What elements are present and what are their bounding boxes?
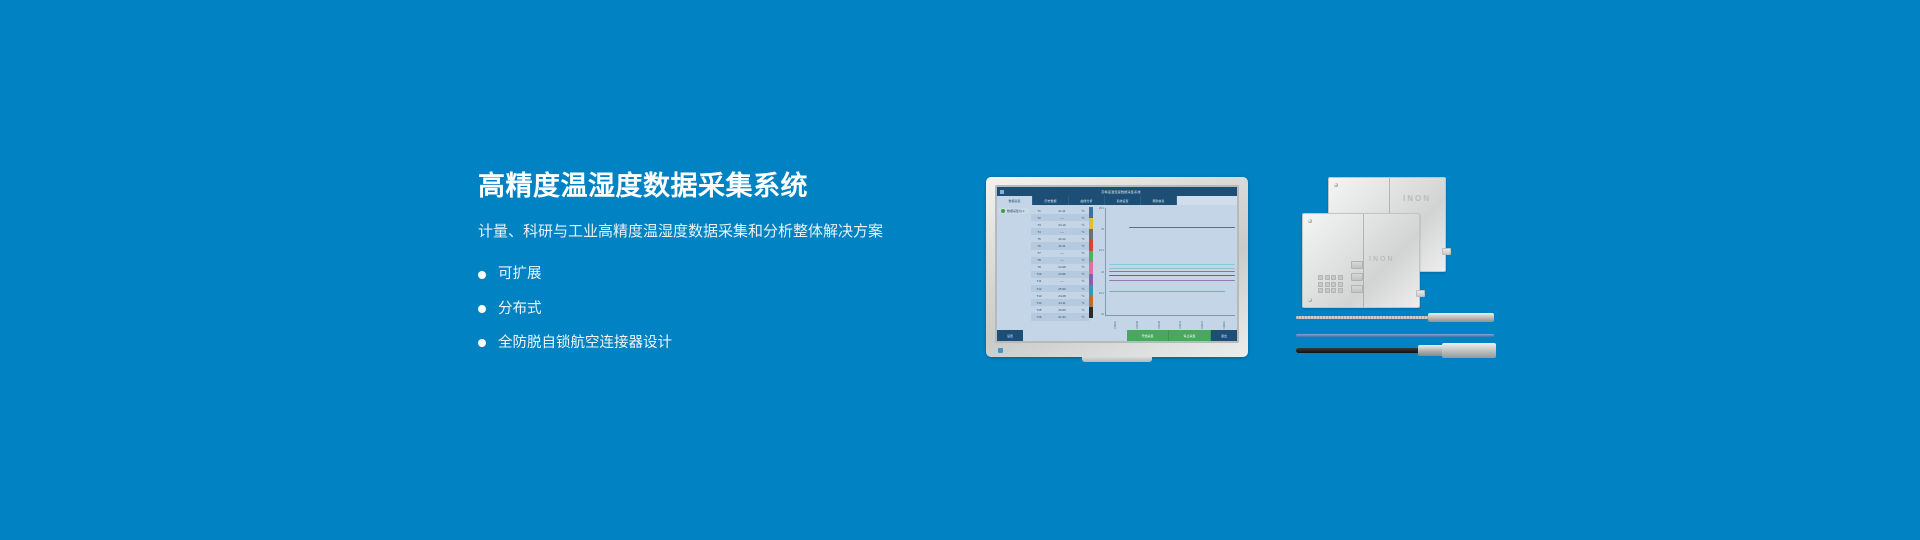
terminal-block-grid [1318, 275, 1343, 293]
port-column [1351, 261, 1363, 293]
feature-list: 可扩展 分布式 全防脱自锁航空连接器设计 [478, 264, 948, 353]
y-tick-label: 25.1 [1099, 207, 1104, 210]
metal-probe [1296, 316, 1430, 319]
channel-unit: ℃ [1077, 279, 1089, 283]
table-row[interactable]: T924.98℃ [1031, 264, 1089, 271]
page-subtitle: 计量、科研与工业高精度温湿度数据采集和分析整体解决方案 [478, 221, 948, 242]
app-logo-icon [1000, 190, 1004, 194]
chart-plot-area [1105, 208, 1235, 316]
copy-block: 高精度温湿度数据采集系统 计量、科研与工业高精度温湿度数据采集和分析整体解决方案… [478, 170, 948, 367]
channel-unit: ℃ [1077, 294, 1089, 298]
bullet-dot-icon [478, 339, 486, 347]
device-tree-sidebar: 数据采集仪-1 [997, 205, 1031, 330]
chart-series-line [1109, 275, 1235, 276]
channel-id: T6 [1031, 244, 1047, 248]
metal-probe-tip [1428, 313, 1494, 322]
channel-value: ---- [1047, 251, 1077, 255]
table-row[interactable]: T1424.11℃ [1031, 299, 1089, 306]
sidebar-item-label: 数据采集仪-1 [1007, 209, 1025, 213]
series-colorbar [1089, 207, 1093, 318]
channel-table: T121.11℃T2----℃T324.19℃T4----℃T520.12℃T6… [1031, 205, 1089, 330]
channel-unit: ℃ [1077, 265, 1089, 269]
channel-id: T12 [1031, 287, 1047, 291]
sensor-probes [1296, 312, 1496, 367]
channel-id: T4 [1031, 230, 1047, 234]
channel-value: ---- [1047, 279, 1077, 283]
table-row[interactable]: T2----℃ [1031, 214, 1089, 221]
table-row[interactable]: T1324.28℃ [1031, 292, 1089, 299]
chart-series-line [1129, 227, 1235, 228]
channel-id: T14 [1031, 301, 1047, 305]
monitor-display: 高精度温湿度数据采集系统 数据采集 历史数据 曲线分析 系统设置 帮助信息 数据… [995, 185, 1239, 343]
channel-value: 20.11 [1047, 244, 1077, 248]
feature-label: 全防脱自锁航空连接器设计 [498, 333, 672, 353]
exit-button[interactable]: 退出 [1211, 330, 1237, 341]
list-item: 可扩展 [478, 264, 948, 284]
acquisition-module-front: INON [1302, 213, 1420, 308]
module-seam [1363, 214, 1364, 307]
trend-chart: 25.12524.12423.123 10:20:3110:21:0510:21… [1094, 205, 1237, 330]
channel-unit: ℃ [1077, 287, 1089, 291]
y-tick-label: 23.1 [1099, 292, 1104, 295]
screw-icon [1308, 298, 1312, 302]
connector-lug [1416, 290, 1425, 297]
channel-unit: ℃ [1077, 223, 1089, 227]
colorbar-segment [1089, 285, 1093, 296]
channel-id: T9 [1031, 265, 1047, 269]
channel-id: T10 [1031, 272, 1047, 276]
channel-id: T11 [1031, 279, 1047, 283]
probe-ferrule [1418, 345, 1444, 356]
colorbar-segment [1089, 296, 1093, 307]
channel-unit: ℃ [1077, 308, 1089, 312]
screw-icon [1334, 183, 1338, 187]
channel-unit: ℃ [1077, 209, 1089, 213]
channel-value: 24.86 [1047, 272, 1077, 276]
vendor-logo-icon [998, 348, 1003, 353]
feature-label: 可扩展 [498, 264, 542, 284]
channel-value: ---- [1047, 216, 1077, 220]
channel-id: T13 [1031, 294, 1047, 298]
y-tick-label: 23 [1101, 313, 1104, 316]
connector-lug [1442, 248, 1451, 255]
channel-unit: ℃ [1077, 258, 1089, 262]
channel-unit: ℃ [1077, 230, 1089, 234]
chart-series-line [1109, 271, 1235, 272]
screw-icon [1308, 219, 1312, 223]
channel-unit: ℃ [1077, 237, 1089, 241]
channel-unit: ℃ [1077, 301, 1089, 305]
chart-x-axis: 10:20:3110:21:0510:21:3910:22:1310:22:47… [1105, 317, 1235, 329]
chart-series-line [1109, 268, 1235, 269]
list-item: 全防脱自锁航空连接器设计 [478, 333, 948, 353]
channel-value: 21.11 [1047, 209, 1077, 213]
channel-value: 20.90 [1047, 308, 1077, 312]
y-tick-label: 24 [1101, 271, 1104, 274]
channel-unit: ℃ [1077, 244, 1089, 248]
toolbar-spacer [1023, 330, 1127, 341]
chart-y-axis: 25.12524.12423.123 [1095, 207, 1104, 316]
colorbar-segment [1089, 229, 1093, 240]
probe-sensor-body [1442, 343, 1496, 358]
monitor-stand [1082, 357, 1152, 362]
colorbar-segment [1089, 240, 1093, 251]
hero-banner: 高精度温湿度数据采集系统 计量、科研与工业高精度温湿度数据采集和分析整体解决方案… [0, 0, 1920, 540]
monitor-footer [986, 343, 1248, 357]
table-row[interactable]: T121.11℃ [1031, 207, 1089, 214]
channel-value: 20.12 [1047, 237, 1077, 241]
channel-id: T8 [1031, 258, 1047, 262]
chart-series-line [1109, 264, 1235, 265]
channel-unit: ℃ [1077, 272, 1089, 276]
x-tick-label: 10:22:47 [1201, 317, 1204, 329]
colorbar-segment [1089, 274, 1093, 285]
app-bottom-toolbar: 设置 开始采集 停止采集 退出 [997, 330, 1237, 341]
table-row[interactable]: T324.19℃ [1031, 221, 1089, 228]
chart-series-line [1109, 291, 1225, 292]
blue-cable-probe [1296, 334, 1494, 337]
app-tabbar: 数据采集 历史数据 曲线分析 系统设置 帮助信息 [997, 196, 1237, 205]
table-row[interactable]: T1225.90℃ [1031, 285, 1089, 292]
colorbar-segment [1089, 251, 1093, 262]
app-title: 高精度温湿度数据采集系统 [1008, 189, 1234, 194]
channel-unit: ℃ [1077, 315, 1089, 319]
x-tick-label: 10:21:05 [1136, 317, 1139, 329]
black-cable-probe [1296, 348, 1422, 353]
tab-curve-analysis[interactable]: 曲线分析 [1069, 196, 1105, 205]
x-tick-label: 10:22:13 [1179, 317, 1182, 329]
channel-value: 25.90 [1047, 287, 1077, 291]
tabbar-filler [1177, 196, 1237, 205]
y-tick-label: 24.1 [1099, 249, 1104, 252]
bullet-dot-icon [478, 305, 486, 313]
channel-id: T1 [1031, 209, 1047, 213]
table-row[interactable]: T520.12℃ [1031, 235, 1089, 242]
list-item: 分布式 [478, 299, 948, 319]
channel-value: 21.94 [1047, 315, 1077, 319]
table-row[interactable]: T4----℃ [1031, 228, 1089, 235]
tab-help[interactable]: 帮助信息 [1141, 196, 1177, 205]
tab-data-acquisition[interactable]: 数据采集 [997, 196, 1033, 205]
colorbar-segment [1089, 307, 1093, 318]
x-tick-label: 10:21:39 [1158, 317, 1161, 329]
channel-value: 24.28 [1047, 294, 1077, 298]
app-body: 数据采集仪-1 T121.11℃T2----℃T324.19℃T4----℃T5… [997, 205, 1237, 330]
table-row[interactable]: T1621.94℃ [1031, 313, 1089, 320]
page-title: 高精度温湿度数据采集系统 [478, 170, 948, 202]
app-screen: 高精度温湿度数据采集系统 数据采集 历史数据 曲线分析 系统设置 帮助信息 数据… [997, 187, 1237, 341]
table-row[interactable]: T1024.86℃ [1031, 271, 1089, 278]
monitor-device: 高精度温湿度数据采集系统 数据采集 历史数据 曲线分析 系统设置 帮助信息 数据… [986, 177, 1248, 357]
tab-settings[interactable]: 系统设置 [1105, 196, 1141, 205]
bullet-dot-icon [478, 271, 486, 279]
channel-id: T7 [1031, 251, 1047, 255]
start-acquisition-button[interactable]: 开始采集 [1127, 330, 1169, 341]
channel-value: 24.11 [1047, 301, 1077, 305]
app-titlebar: 高精度温湿度数据采集系统 [997, 187, 1237, 196]
sidebar-item-device[interactable]: 数据采集仪-1 [999, 208, 1029, 214]
channel-value: 24.98 [1047, 265, 1077, 269]
settings-button[interactable]: 设置 [997, 330, 1023, 341]
y-tick-label: 25 [1101, 228, 1104, 231]
colorbar-segment [1089, 207, 1093, 218]
channel-unit: ℃ [1077, 251, 1089, 255]
channel-id: T2 [1031, 216, 1047, 220]
colorbar-segment [1089, 262, 1093, 273]
table-row[interactable]: T620.11℃ [1031, 242, 1089, 249]
tab-history[interactable]: 历史数据 [1033, 196, 1069, 205]
table-row[interactable]: T1520.90℃ [1031, 306, 1089, 313]
table-row[interactable]: T8----℃ [1031, 257, 1089, 264]
brand-logo: INON [1369, 256, 1395, 263]
channel-unit: ℃ [1077, 216, 1089, 220]
channel-value: 24.19 [1047, 223, 1077, 227]
x-tick-label: 10:23:21 [1223, 317, 1226, 329]
brand-logo: INON [1403, 194, 1431, 203]
channel-id: T3 [1031, 223, 1047, 227]
chart-series-line [1109, 280, 1235, 281]
feature-label: 分布式 [498, 299, 542, 319]
channel-id: T15 [1031, 308, 1047, 312]
table-row[interactable]: T7----℃ [1031, 250, 1089, 257]
channel-id: T5 [1031, 237, 1047, 241]
colorbar-segment [1089, 218, 1093, 229]
status-dot-icon [1001, 209, 1005, 213]
channel-id: T16 [1031, 315, 1047, 319]
channel-value: ---- [1047, 258, 1077, 262]
stop-acquisition-button[interactable]: 停止采集 [1169, 330, 1211, 341]
table-row[interactable]: T11----℃ [1031, 278, 1089, 285]
x-tick-label: 10:20:31 [1114, 317, 1117, 329]
channel-value: ---- [1047, 230, 1077, 234]
